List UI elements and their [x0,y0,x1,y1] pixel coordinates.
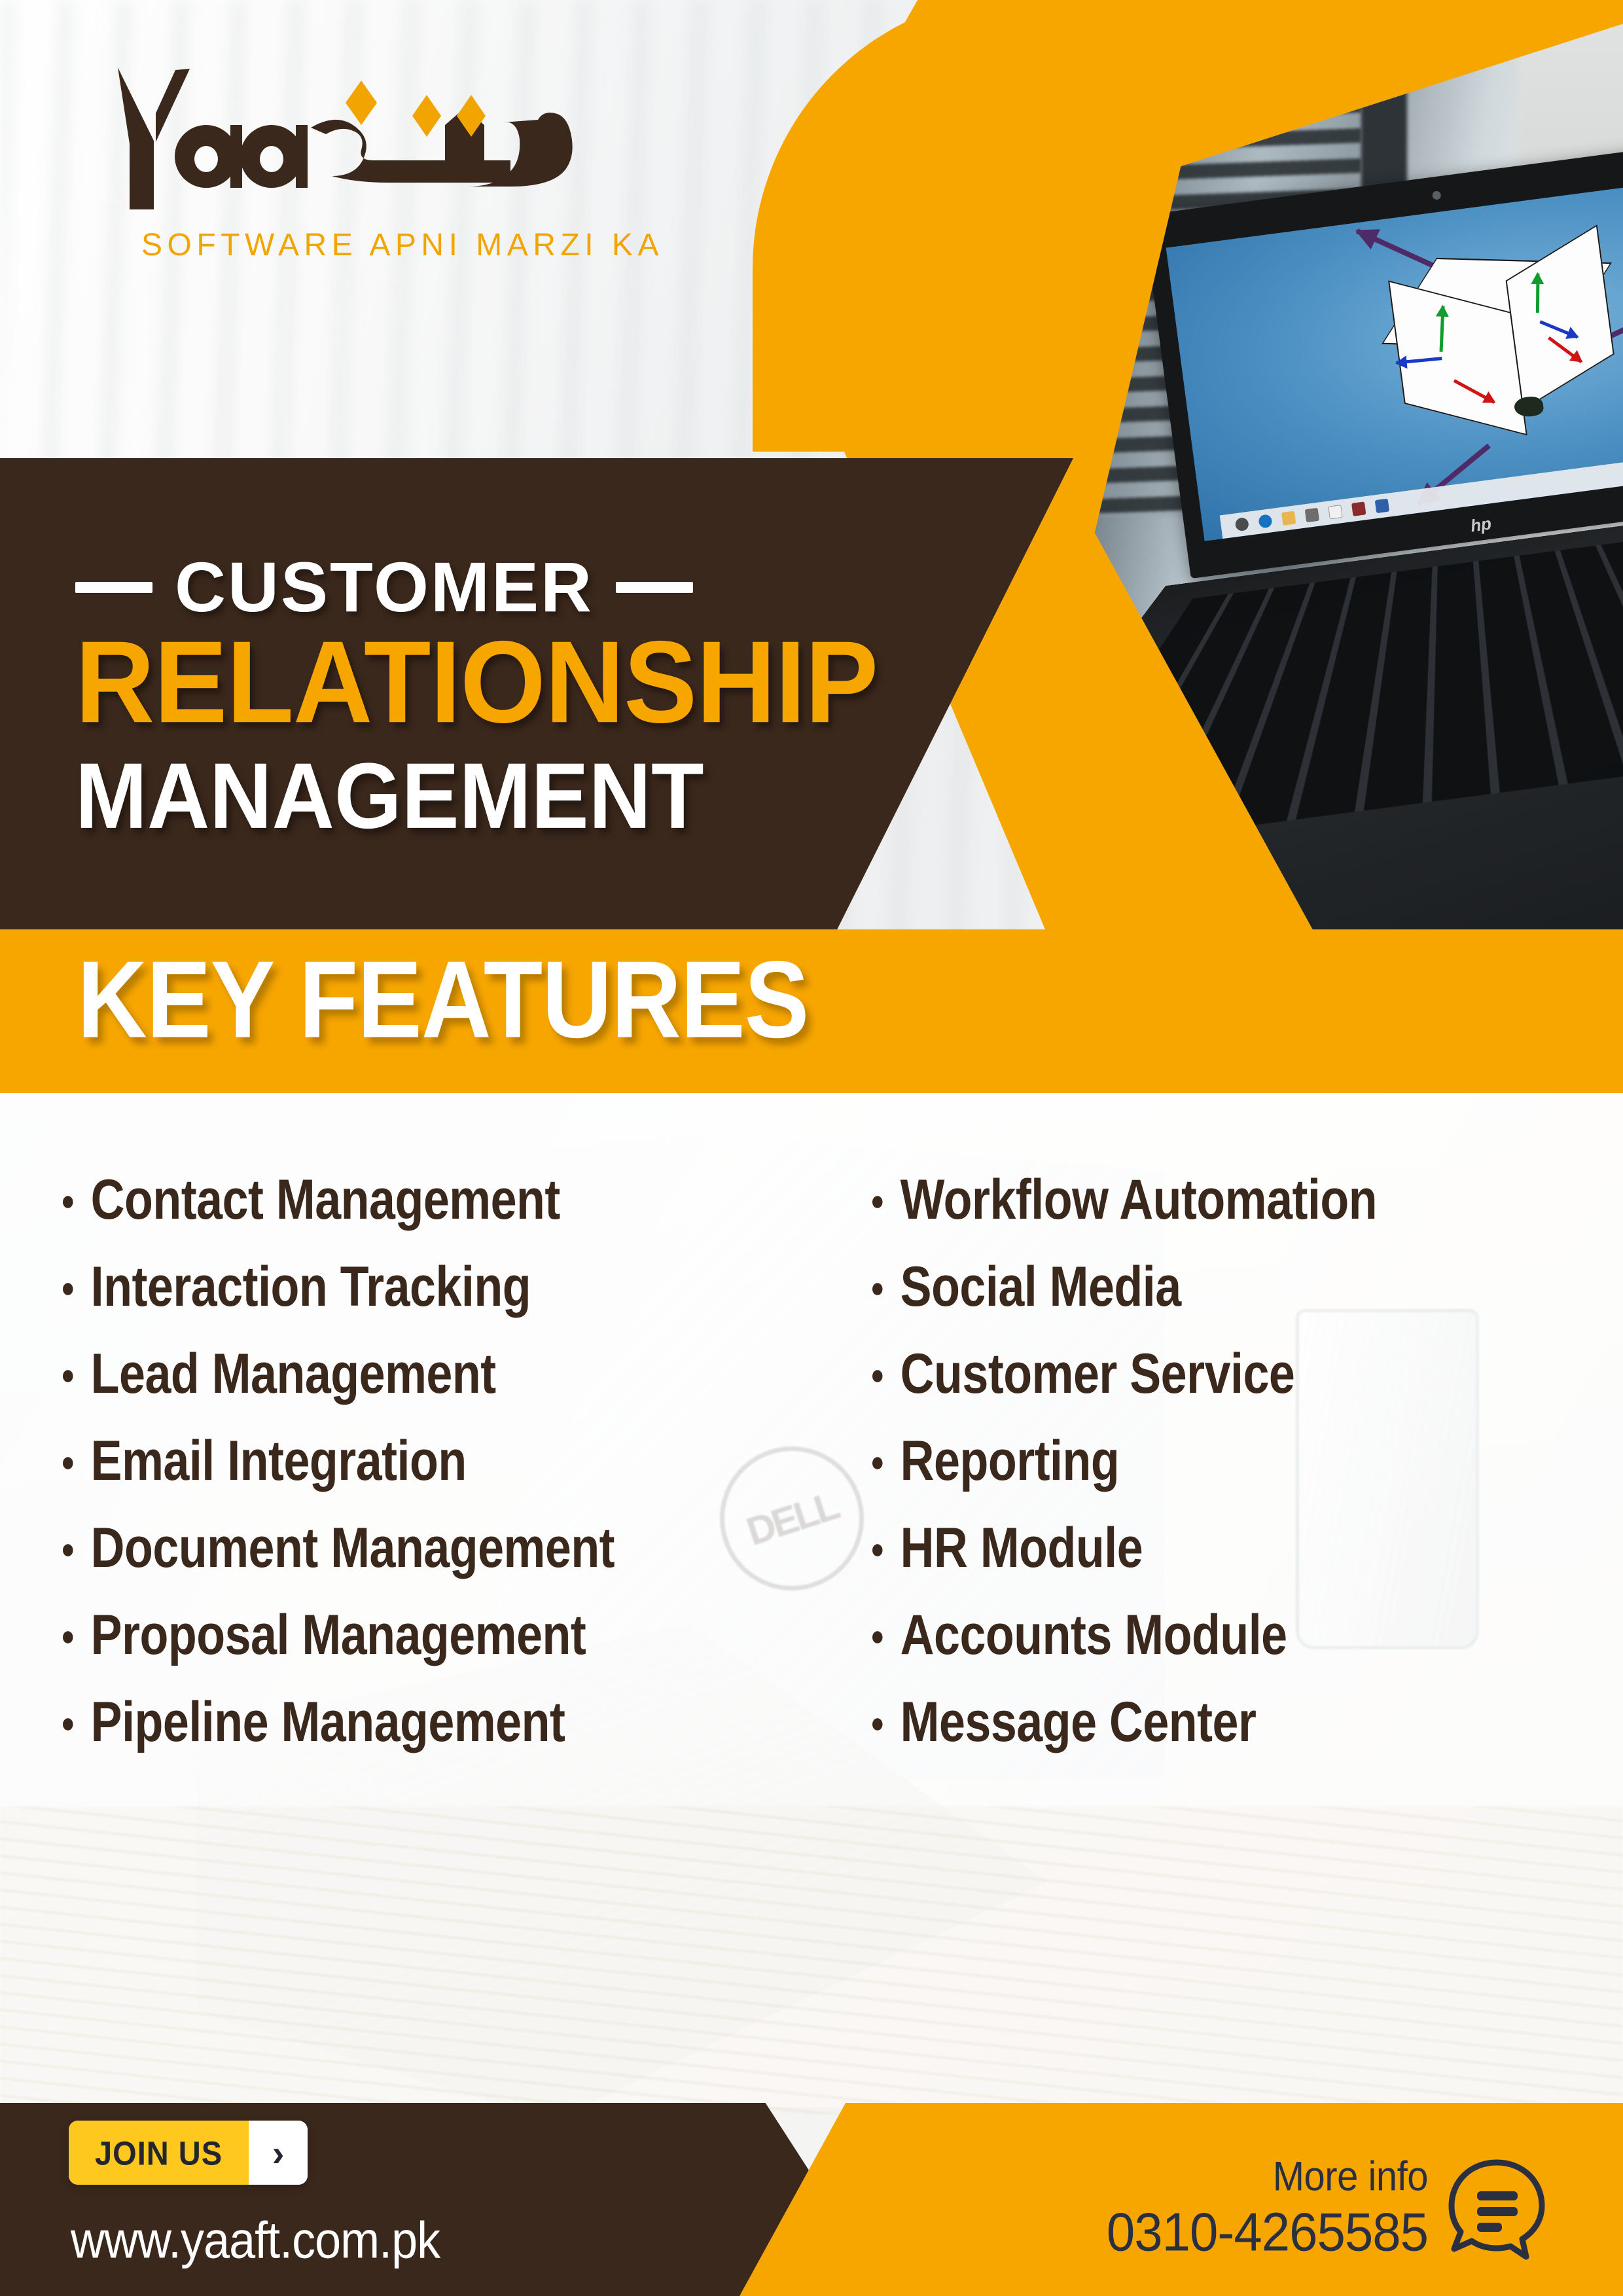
bullet-icon [872,1457,883,1469]
poster-root: DELL [0,0,1623,2296]
bullet-icon [872,1631,883,1643]
feature-item: Proposal Management [63,1602,791,1667]
feature-item: Workflow Automation [872,1167,1601,1232]
website-url[interactable]: www.yaaft.com.pk [71,2211,440,2270]
features-columns: Contact Management Interaction Tracking … [0,1172,1623,2049]
bullet-icon [872,1370,883,1382]
feature-label: Email Integration [91,1428,467,1493]
feature-label: HR Module [901,1515,1143,1580]
laptop-webcam-icon [1432,190,1442,200]
bullet-icon [872,1283,883,1295]
hero-title-group: CUSTOMER RELATIONSHIP MANAGEMENT [0,458,916,929]
hero-title-line2: RELATIONSHIP [75,626,916,738]
feature-label: Customer Service [901,1341,1295,1406]
feature-item: Customer Service [872,1341,1601,1406]
feature-item: HR Module [872,1515,1601,1580]
feature-label: Message Center [901,1689,1257,1754]
chevron-right-icon: › [249,2121,308,2185]
join-us-label: JOIN US [69,2121,249,2185]
bullet-icon [63,1718,73,1731]
title-dash-left-icon [75,582,152,593]
feature-label: Social Media [901,1254,1181,1319]
title-dash-right-icon [616,582,693,593]
feature-label: Contact Management [91,1167,560,1232]
feature-item: Lead Management [63,1341,791,1406]
hero-title-line1: CUSTOMER [175,552,594,622]
bullet-icon [63,1370,73,1382]
feature-item: Contact Management [63,1167,791,1232]
bullet-icon [63,1196,73,1208]
laptop-screen [1166,176,1623,541]
bullet-icon [63,1631,73,1643]
footer-contact-group: More info 0310-4265585 [1107,2155,1546,2262]
key-features-heading: KEY FEATURES [77,942,808,1058]
bullet-icon [63,1544,73,1556]
feature-label: Workflow Automation [901,1167,1377,1232]
bullet-icon [63,1457,73,1469]
feature-item: Social Media [872,1254,1601,1319]
feature-item: Email Integration [63,1428,791,1493]
feature-item: Reporting [872,1428,1601,1493]
feature-item: Interaction Tracking [63,1254,791,1319]
cad-cube-diagram [1366,225,1623,508]
brand-logo[interactable]: SOFTWARE APNI MARZI KA [92,62,720,278]
feature-label: Pipeline Management [91,1689,565,1754]
feature-label: Accounts Module [901,1602,1287,1667]
feature-label: Reporting [901,1428,1120,1493]
join-us-button[interactable]: JOIN US › [69,2121,308,2185]
feature-item: Pipeline Management [63,1689,791,1754]
chat-bubble-icon [1448,2157,1546,2262]
more-info-label: More info [1107,2153,1428,2200]
feature-label: Proposal Management [91,1602,586,1667]
feature-item: Accounts Module [872,1602,1601,1667]
feature-label: Lead Management [91,1341,496,1406]
bullet-icon [63,1283,73,1295]
feature-item: Document Management [63,1515,791,1580]
hero-title-line3: MANAGEMENT [75,749,916,843]
feature-label: Interaction Tracking [91,1254,531,1319]
bullet-icon [872,1544,883,1556]
hero-title-line1-row: CUSTOMER [75,552,916,622]
feature-label: Document Management [91,1515,615,1580]
feature-item: Message Center [872,1689,1601,1754]
phone-number[interactable]: 0310-4265585 [1107,2200,1428,2263]
bullet-icon [872,1718,883,1731]
yaaft-logo-icon [92,62,681,219]
brand-tagline: SOFTWARE APNI MARZI KA [141,227,664,263]
bullet-icon [872,1196,883,1208]
